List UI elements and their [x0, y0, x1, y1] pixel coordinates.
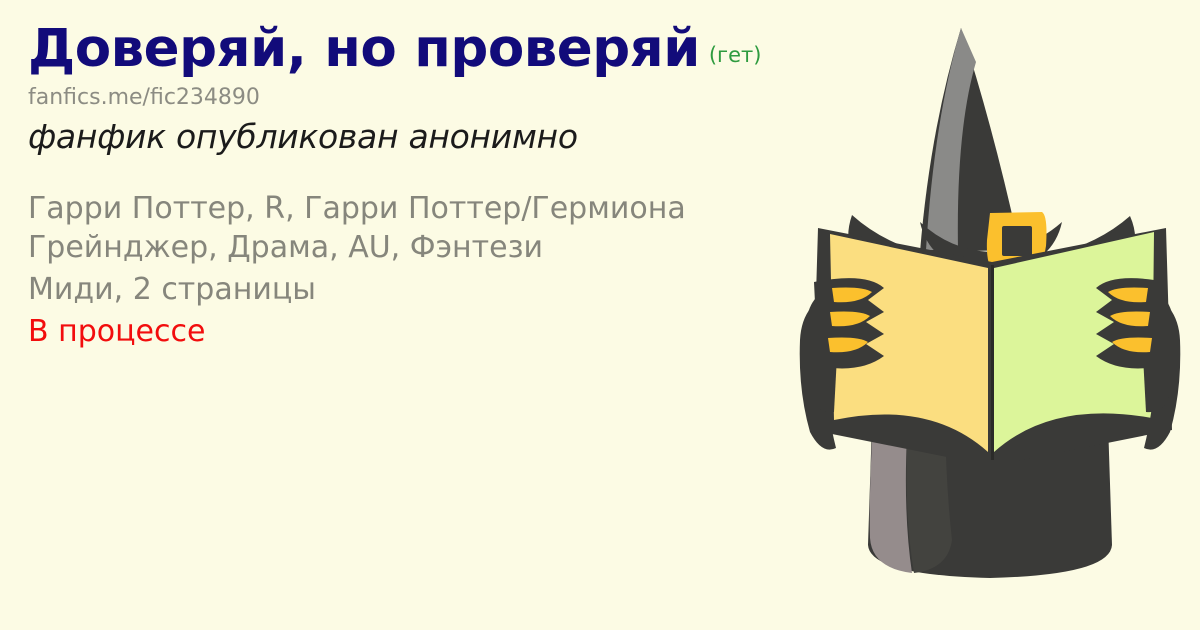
- title-row: Доверяй, но проверяй(гет): [28, 22, 828, 75]
- fanfic-status: В процессе: [28, 313, 828, 351]
- wizard-reading-illustration: [780, 0, 1200, 630]
- fanfic-author-note: фанфик опубликован анонимно: [28, 118, 828, 156]
- fanfic-url[interactable]: fanfics.me/fic234890: [28, 86, 828, 110]
- fanfic-tags: Гарри Поттер, R, Гарри Поттер/Гермиона Г…: [28, 190, 818, 267]
- fanfic-title[interactable]: Доверяй, но проверяй: [28, 18, 700, 79]
- wizard-illustration-svg: [780, 0, 1200, 630]
- fanfic-category-badge: (гет): [709, 43, 762, 67]
- fanfic-metadata-block: Гарри Поттер, R, Гарри Поттер/Гермиона Г…: [28, 190, 828, 352]
- fanfic-info-column: Доверяй, но проверяй(гет) fanfics.me/fic…: [28, 22, 828, 352]
- buckle-inner-hole: [1002, 226, 1032, 256]
- book-spine: [991, 265, 994, 460]
- fanfic-size: Миди, 2 страницы: [28, 271, 818, 309]
- fanfic-preview-card: Доверяй, но проверяй(гет) fanfics.me/fic…: [0, 0, 1200, 630]
